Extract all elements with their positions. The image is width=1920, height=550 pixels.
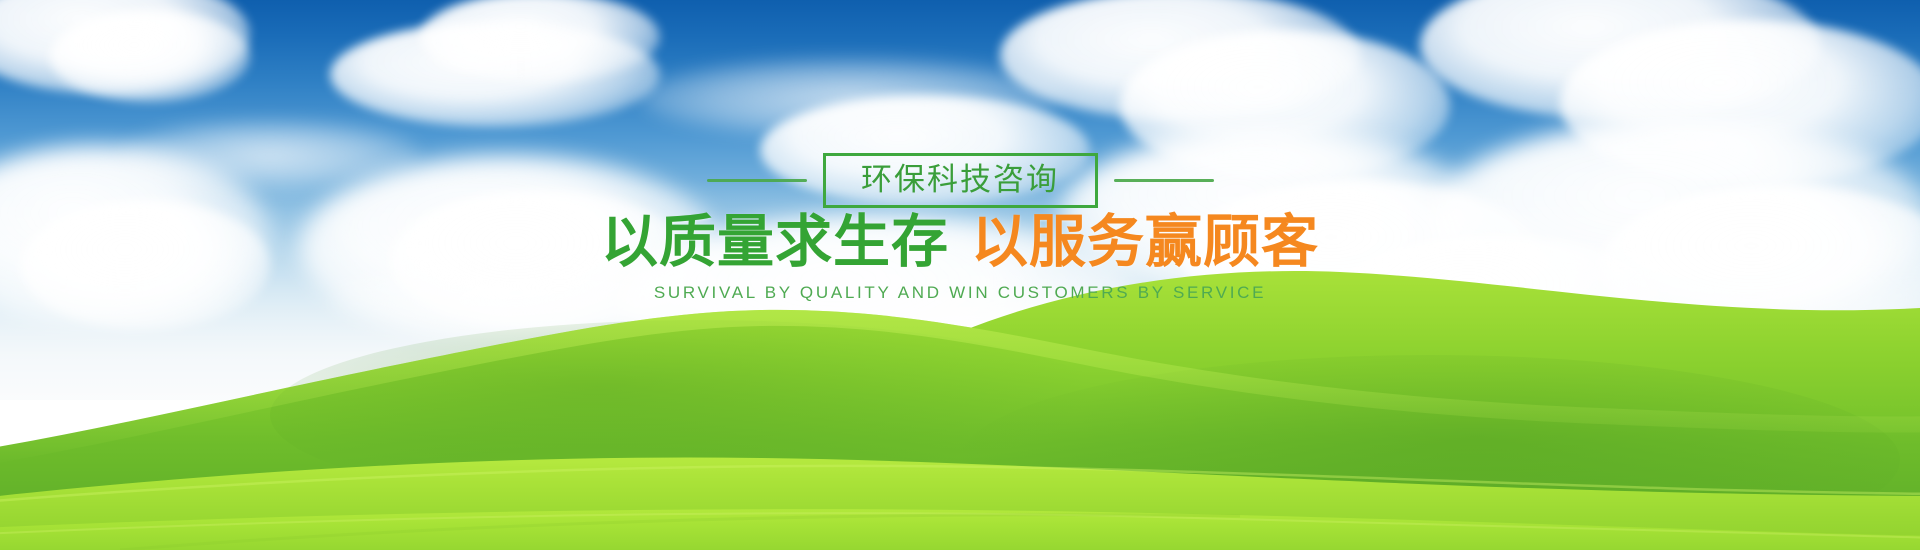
right-rule-decoration bbox=[1114, 179, 1214, 182]
eyebrow-row: 环保科技咨询 bbox=[0, 153, 1920, 208]
hero-banner: 环保科技咨询 以质量求生存以服务赢顾客 SURVIVAL BY QUALITY … bbox=[0, 0, 1920, 550]
banner-content: 环保科技咨询 以质量求生存以服务赢顾客 SURVIVAL BY QUALITY … bbox=[0, 0, 1920, 550]
headline-orange-segment: 以服务赢顾客 bbox=[971, 210, 1319, 274]
eyebrow-box: 环保科技咨询 bbox=[823, 153, 1098, 208]
eyebrow-label: 环保科技咨询 bbox=[861, 164, 1059, 195]
headline-green-segment: 以质量求生存 bbox=[601, 210, 949, 274]
left-rule-decoration bbox=[707, 179, 807, 182]
subtitle: SURVIVAL BY QUALITY AND WIN CUSTOMERS BY… bbox=[0, 283, 1920, 303]
headline: 以质量求生存以服务赢顾客 bbox=[0, 214, 1920, 271]
